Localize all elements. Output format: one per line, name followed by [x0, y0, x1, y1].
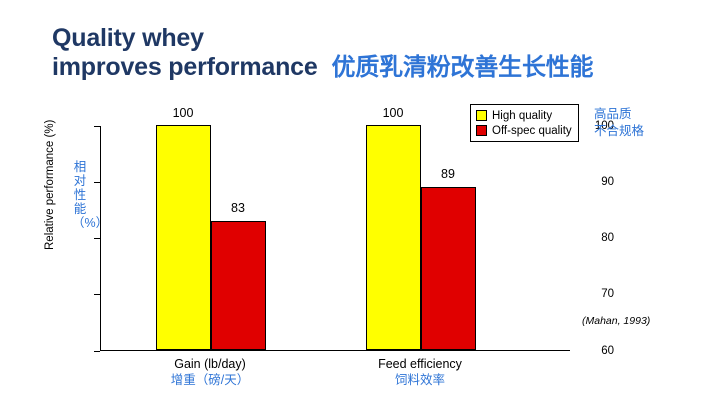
title-line-1: Quality whey — [52, 24, 692, 53]
title-line-2-text: improves performance — [52, 53, 318, 81]
y-axis-title-chinese: 相对性能（%） — [72, 160, 88, 230]
x-label-gain-cn: 增重（磅/天） — [110, 372, 310, 389]
value-label-gain-high: 100 — [173, 106, 194, 120]
y-tick-70: 70 — [574, 288, 614, 300]
title-block: Quality whey improves performance优质乳清粉改善… — [52, 24, 692, 82]
legend-swatch-high-quality — [476, 110, 487, 121]
value-label-feed-high: 100 — [383, 106, 404, 120]
plot-area — [100, 126, 570, 351]
x-label-feed-en: Feed efficiency — [320, 356, 520, 372]
x-label-feed: Feed efficiency 饲料效率 — [320, 356, 520, 389]
citation: (Mahan, 1993) — [582, 315, 650, 327]
x-label-gain: Gain (lb/day) 增重（磅/天） — [110, 356, 310, 389]
y-tick-mark-60 — [94, 351, 100, 352]
value-label-gain-off: 83 — [231, 201, 245, 215]
title-line-2: improves performance优质乳清粉改善生长性能 — [52, 53, 692, 82]
title-line-1-text: Quality whey — [52, 24, 204, 52]
title-chinese: 优质乳清粉改善生长性能 — [332, 54, 594, 81]
chart-legend: High quality Off-spec quality — [470, 104, 579, 142]
bar-gain-off-spec — [211, 221, 266, 350]
legend-label-high-quality: High quality — [492, 110, 552, 122]
legend-item-off-spec: Off-spec quality — [476, 123, 572, 138]
x-label-feed-cn: 饲料效率 — [320, 372, 520, 389]
bar-feed-off-spec — [421, 187, 476, 350]
legend-chinese-line-1: 高品质 — [594, 106, 644, 123]
y-axis-title: Relative performance (%) — [44, 120, 56, 250]
bar-gain-high-quality — [156, 125, 211, 350]
legend-item-high-quality: High quality — [476, 108, 572, 123]
legend-swatch-off-spec — [476, 125, 487, 136]
legend-chinese: 高品质 不合规格 — [594, 106, 644, 140]
bar-feed-high-quality — [366, 125, 421, 350]
legend-label-off-spec: Off-spec quality — [492, 125, 572, 137]
bar-chart: Relative performance (%) 相对性能（%） 100 90 … — [0, 100, 720, 405]
value-label-feed-off: 89 — [441, 167, 455, 181]
legend-chinese-line-2: 不合规格 — [594, 123, 644, 140]
x-label-gain-en: Gain (lb/day) — [110, 356, 310, 372]
y-tick-80: 80 — [574, 232, 614, 244]
y-tick-60: 60 — [574, 345, 614, 357]
y-tick-90: 90 — [574, 176, 614, 188]
